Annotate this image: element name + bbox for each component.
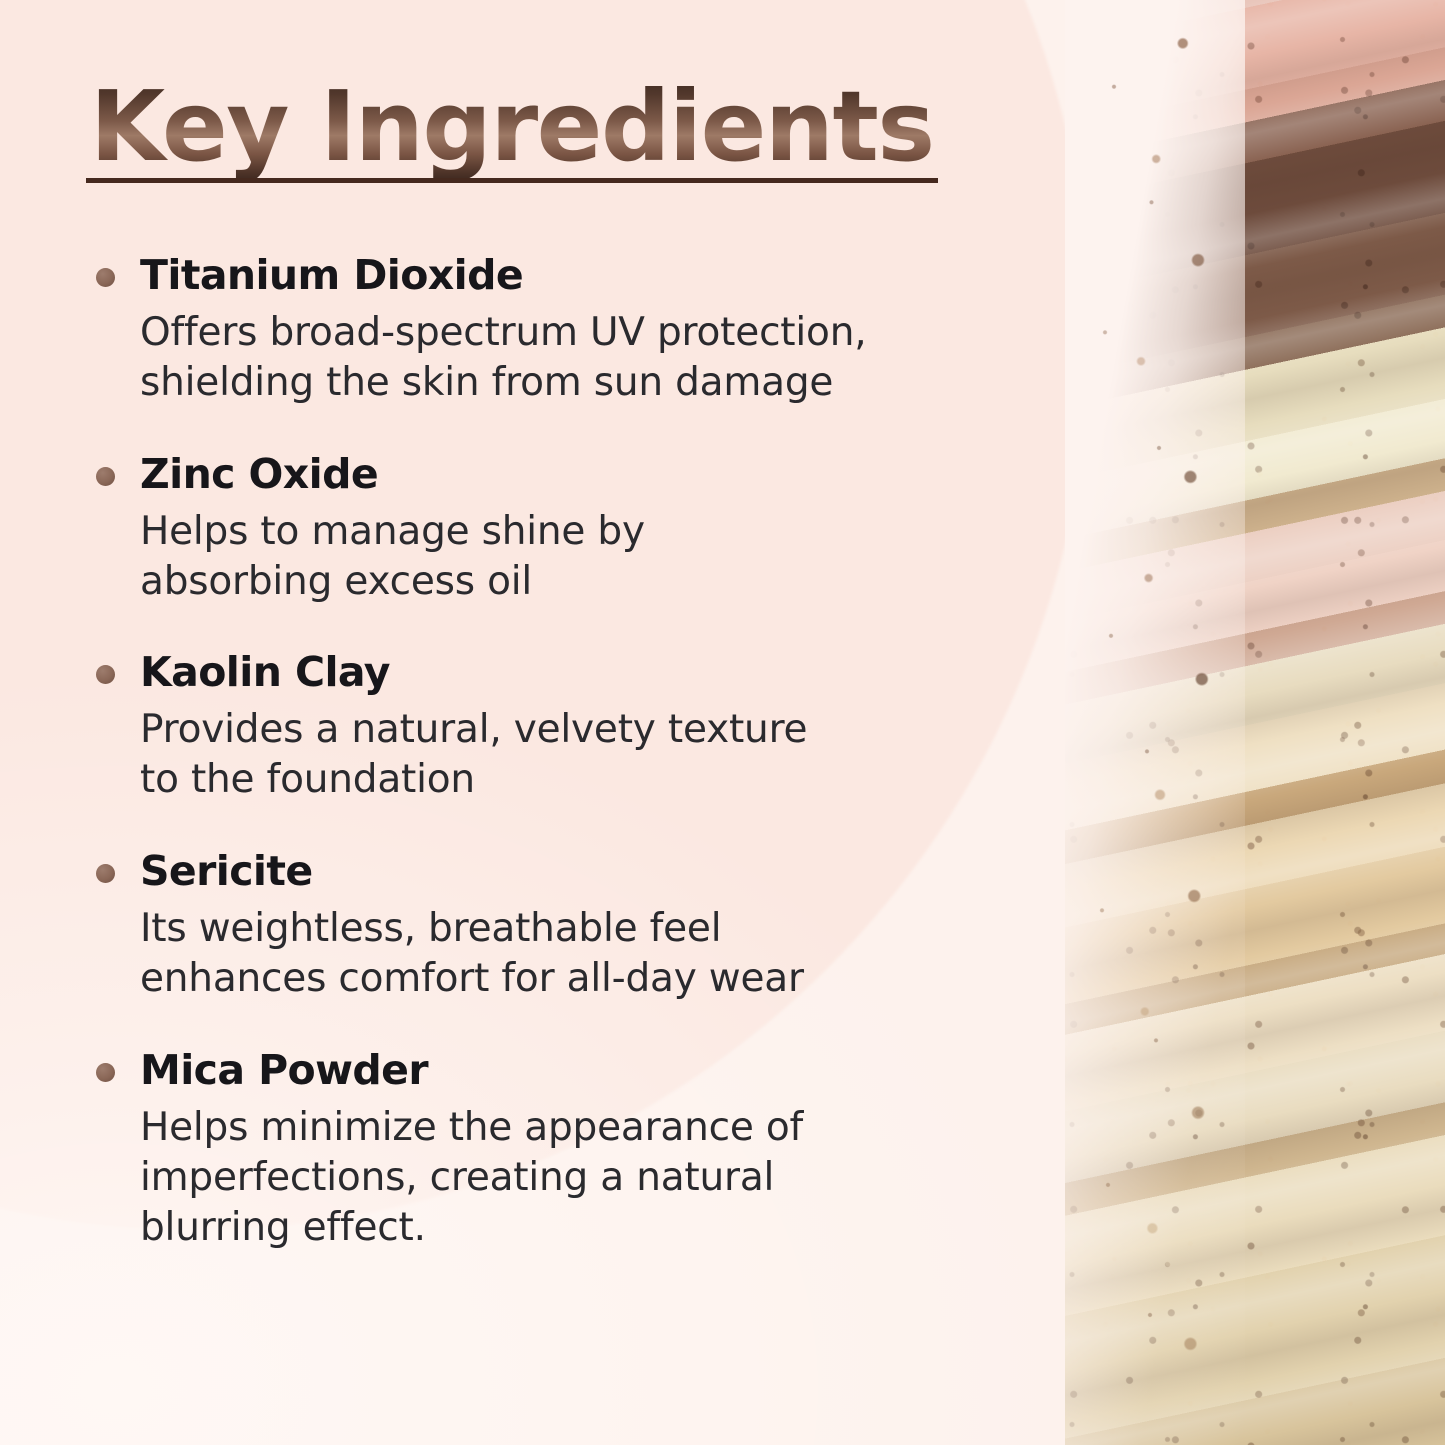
- list-item: Titanium Dioxide Offers broad-spectrum U…: [82, 253, 1090, 408]
- bullet-dot-icon: [96, 268, 115, 287]
- bullet-dot-icon: [96, 864, 115, 883]
- powder-edge-dust: [1069, 0, 1219, 1445]
- list-item: Kaolin Clay Provides a natural, velvety …: [82, 650, 1090, 805]
- page-title: Key Ingredients: [82, 78, 942, 181]
- ingredient-description: Helps minimize the appearance of imperfe…: [140, 1103, 1090, 1253]
- bullet-dot-icon: [96, 467, 115, 486]
- ingredient-name: Titanium Dioxide: [140, 253, 1090, 299]
- bullet-dot-icon: [96, 1063, 115, 1082]
- ingredient-description: Offers broad-spectrum UV protection, shi…: [140, 308, 1090, 408]
- ingredient-name: Kaolin Clay: [140, 650, 1090, 696]
- page-title-wrapper: Key Ingredients: [82, 78, 942, 181]
- list-item: Mica Powder Helps minimize the appearanc…: [82, 1048, 1090, 1253]
- ingredient-description: Its weightless, breathable feel enhances…: [140, 904, 1090, 1004]
- ingredient-description: Helps to manage shine by absorbing exces…: [140, 507, 1090, 607]
- ingredient-list: Titanium Dioxide Offers broad-spectrum U…: [82, 253, 1090, 1253]
- ingredient-name: Zinc Oxide: [140, 452, 1090, 498]
- ingredient-name: Sericite: [140, 849, 1090, 895]
- title-underline: [86, 178, 938, 183]
- bullet-dot-icon: [96, 665, 115, 684]
- text-column: Key Ingredients Titanium Dioxide Offers …: [0, 0, 1090, 1445]
- key-ingredients-panel: Key Ingredients Titanium Dioxide Offers …: [0, 0, 1445, 1445]
- ingredient-name: Mica Powder: [140, 1048, 1090, 1094]
- powder-swatch-photo: [1065, 0, 1445, 1445]
- ingredient-description: Provides a natural, velvety texture to t…: [140, 705, 1090, 805]
- list-item: Zinc Oxide Helps to manage shine by abso…: [82, 452, 1090, 607]
- list-item: Sericite Its weightless, breathable feel…: [82, 849, 1090, 1004]
